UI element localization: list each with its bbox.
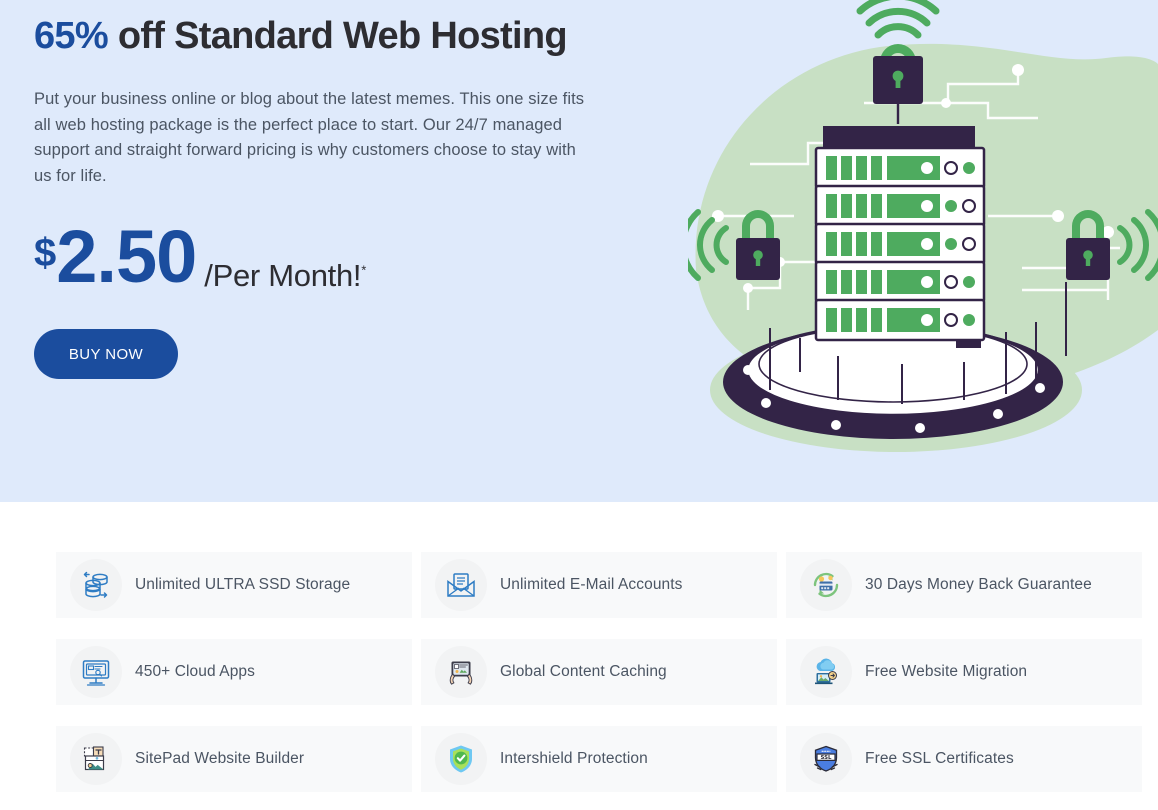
price-asterisk: * [361, 263, 366, 278]
desktop-monitor-icon [70, 646, 122, 698]
feature-label: Free Website Migration [865, 663, 1027, 681]
server-rack-stack [816, 126, 984, 348]
feature-label: Global Content Caching [500, 663, 667, 681]
features-section: Unlimited ULTRA SSD Storage Unlimited E-… [0, 502, 1158, 810]
server-unit [816, 300, 984, 348]
feature-grid: Unlimited ULTRA SSD Storage Unlimited E-… [56, 552, 1102, 792]
hero-section: 65% off Standard Web Hosting Put your bu… [0, 0, 1158, 502]
feature-label: Unlimited E-Mail Accounts [500, 576, 683, 594]
buy-now-button[interactable]: BUY NOW [34, 329, 178, 379]
feature-card-ssl-certificates[interactable]: SSL Free SSL Certificates [786, 726, 1142, 792]
ssl-badge-icon: SSL [800, 733, 852, 785]
price-block: $ 2.50 /Per Month!* [34, 223, 644, 303]
feature-label: 30 Days Money Back Guarantee [865, 576, 1092, 594]
wifi-signal-icon [860, 0, 936, 35]
feature-label: 450+ Cloud Apps [135, 663, 255, 681]
price-period: /Per Month!* [204, 260, 366, 291]
tablet-in-hands-icon [435, 646, 487, 698]
price-amount: 2.50 [56, 223, 196, 291]
feature-label: Free SSL Certificates [865, 750, 1014, 768]
feature-label: Unlimited ULTRA SSD Storage [135, 576, 350, 594]
price-period-text: /Per Month! [204, 258, 361, 293]
feature-card-cloud-apps[interactable]: 450+ Cloud Apps [56, 639, 412, 705]
svg-text:SSL: SSL [821, 755, 833, 761]
feature-card-ssd-storage[interactable]: Unlimited ULTRA SSD Storage [56, 552, 412, 618]
server-stack-security-illustration [688, 0, 1158, 502]
discount-percent: 65% [34, 15, 108, 57]
headline-rest: off Standard Web Hosting [108, 15, 567, 57]
hero-copy: 65% off Standard Web Hosting Put your bu… [34, 0, 644, 379]
feature-label: SitePad Website Builder [135, 750, 304, 768]
hero-description: Put your business online or blog about t… [34, 87, 594, 189]
feature-card-sitepad-builder[interactable]: SitePad Website Builder [56, 726, 412, 792]
feature-card-email-accounts[interactable]: Unlimited E-Mail Accounts [421, 552, 777, 618]
envelope-mail-icon [435, 559, 487, 611]
money-back-refresh-icon [800, 559, 852, 611]
feature-card-intershield-protection[interactable]: Intershield Protection [421, 726, 777, 792]
sitepad-builder-icon [70, 733, 122, 785]
page-title: 65% off Standard Web Hosting [34, 14, 644, 59]
feature-card-money-back[interactable]: 30 Days Money Back Guarantee [786, 552, 1142, 618]
database-storage-icon [70, 559, 122, 611]
cloud-migration-icon [800, 646, 852, 698]
feature-label: Intershield Protection [500, 750, 648, 768]
feature-card-website-migration[interactable]: Free Website Migration [786, 639, 1142, 705]
price-currency-symbol: $ [34, 233, 56, 273]
feature-card-content-caching[interactable]: Global Content Caching [421, 639, 777, 705]
shield-check-icon [435, 733, 487, 785]
